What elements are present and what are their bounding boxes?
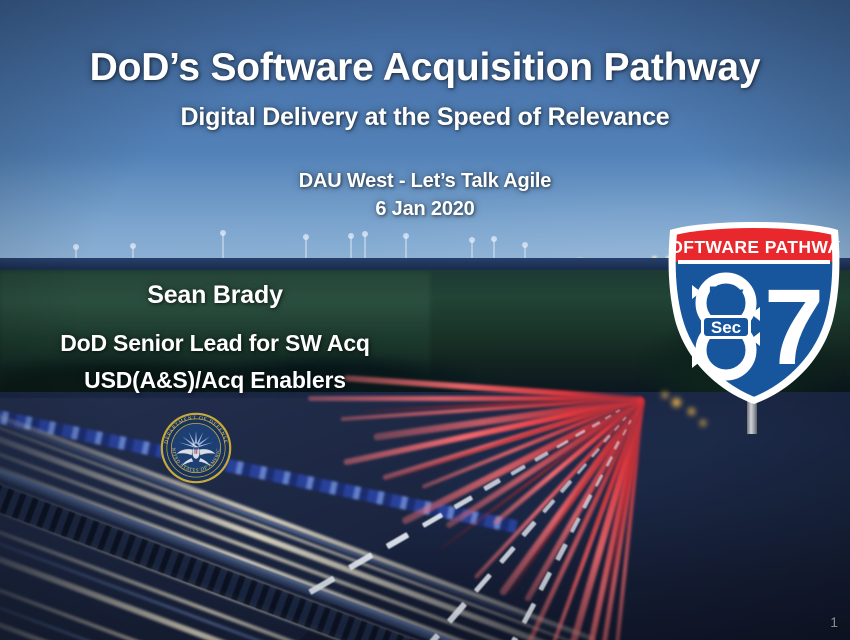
shield-dev-label: Dev	[709, 284, 744, 305]
presenter-name: Sean Brady	[0, 281, 430, 310]
devsecops-infinity-glyph: Dev Sec Ops	[692, 278, 760, 375]
presenter-role-1: DoD Senior Lead for SW Acq	[0, 330, 430, 357]
event-name: DAU West - Let’s Talk Agile	[0, 170, 850, 193]
slide-subtitle: Digital Delivery at the Speed of Relevan…	[0, 103, 850, 132]
presentation-slide: DEPARTMENT OF DEFENSE UNITED STATES OF A…	[0, 0, 850, 640]
event-date: 6 Jan 2020	[0, 198, 850, 221]
shield-ops-label: Ops	[708, 343, 745, 364]
shield-banner-text: SOFTWARE PATHWAY	[668, 237, 840, 257]
shield-sec-label: Sec	[711, 318, 741, 337]
shield-route-digit-7: 7	[764, 266, 824, 387]
slide-number: 1	[830, 614, 838, 630]
slide-title: DoD’s Software Acquisition Pathway	[0, 46, 850, 90]
dod-seal: DEPARTMENT OF DEFENSE UNITED STATES OF A…	[160, 412, 232, 484]
presenter-role-2: USD(A&S)/Acq Enablers	[0, 367, 430, 394]
software-pathway-shield: SOFTWARE PATHWAY 7 Dev Sec Ops	[668, 222, 840, 404]
